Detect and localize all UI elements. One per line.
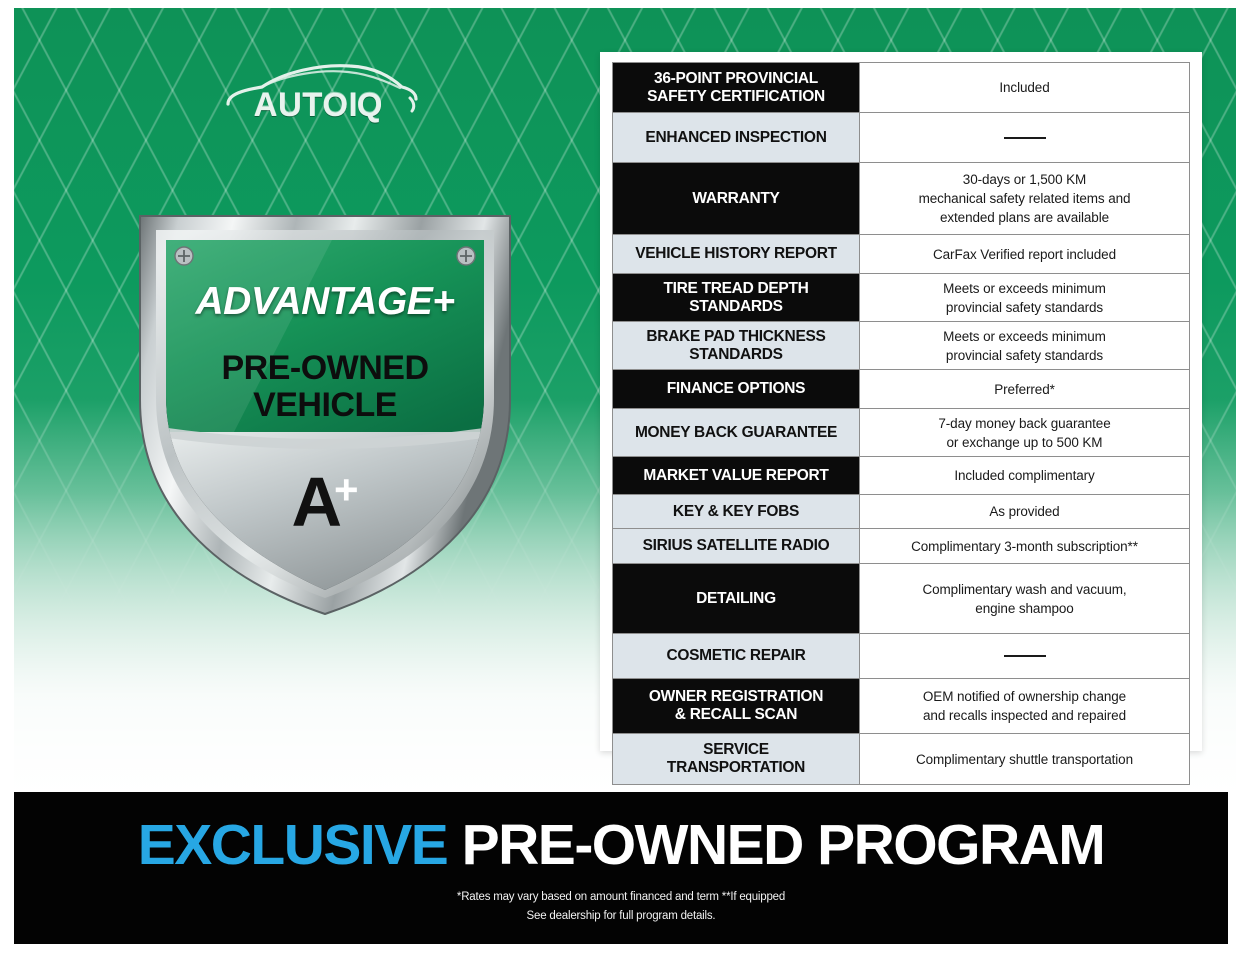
logo-text-auto: AUTO — [254, 86, 349, 123]
table-row: VEHICLE HISTORY REPORTCarFax Verified re… — [613, 235, 1189, 274]
table-row-label: SERVICETRANSPORTATION — [613, 734, 859, 784]
screw-icon-left — [175, 247, 193, 265]
table-row: MONEY BACK GUARANTEE7-day money back gua… — [613, 409, 1189, 457]
advantage-plus-poster: AUTOIQ — [0, 0, 1242, 960]
table-row: 36-POINT PROVINCIALSAFETY CERTIFICATIONI… — [613, 63, 1189, 113]
em-dash-placeholder — [1004, 137, 1046, 139]
banner-title: EXCLUSIVE PRE-OWNED PROGRAM — [14, 812, 1228, 878]
table-row-label: MARKET VALUE REPORT — [613, 457, 859, 494]
table-row-label: ENHANCED INSPECTION — [613, 113, 859, 162]
table-row-value: Included — [859, 63, 1189, 112]
table-row-value — [859, 113, 1189, 162]
table-row: TIRE TREAD DEPTHSTANDARDSMeets or exceed… — [613, 274, 1189, 322]
table-row-value: OEM notified of ownership changeand reca… — [859, 679, 1189, 733]
table-row-label: KEY & KEY FOBS — [613, 495, 859, 528]
table-row: MARKET VALUE REPORTIncluded complimentar… — [613, 457, 1189, 495]
table-row-label: BRAKE PAD THICKNESSSTANDARDS — [613, 322, 859, 369]
table-row-value: Meets or exceeds minimumprovincial safet… — [859, 322, 1189, 369]
table-row-label: VEHICLE HISTORY REPORT — [613, 235, 859, 273]
footnote-line-1: *Rates may vary based on amount financed… — [14, 888, 1228, 907]
table-row-value: Complimentary 3-month subscription** — [859, 529, 1189, 563]
table-row-value — [859, 634, 1189, 678]
table-row: SERVICETRANSPORTATIONComplimentary shutt… — [613, 734, 1189, 784]
table-row: BRAKE PAD THICKNESSSTANDARDSMeets or exc… — [613, 322, 1189, 370]
table-row-label: COSMETIC REPAIR — [613, 634, 859, 678]
table-row: KEY & KEY FOBSAs provided — [613, 495, 1189, 529]
table-row-label: WARRANTY — [613, 163, 859, 234]
table-row-value: Complimentary wash and vacuum,engine sha… — [859, 564, 1189, 633]
table-row-label: MONEY BACK GUARANTEE — [613, 409, 859, 456]
footnote-line-2: See dealership for full program details. — [14, 907, 1228, 926]
table-row-value: Complimentary shuttle transportation — [859, 734, 1189, 784]
auto-iq-wordmark: AUTOIQ — [210, 86, 425, 124]
banner-footnotes: *Rates may vary based on amount financed… — [14, 888, 1228, 926]
table-row-value: CarFax Verified report included — [859, 235, 1189, 273]
table-row-label: OWNER REGISTRATION& RECALL SCAN — [613, 679, 859, 733]
logo-text-iq: IQ — [349, 86, 382, 123]
table-row: OWNER REGISTRATION& RECALL SCANOEM notif… — [613, 679, 1189, 734]
banner-title-highlight: EXCLUSIVE — [138, 813, 448, 877]
table-row: WARRANTY30-days or 1,500 KMmechanical sa… — [613, 163, 1189, 235]
screw-icon-right — [457, 247, 475, 265]
em-dash-placeholder — [1004, 655, 1046, 657]
table-row: FINANCE OPTIONSPreferred* — [613, 370, 1189, 409]
table-row-label: TIRE TREAD DEPTHSTANDARDS — [613, 274, 859, 321]
table-row-value: Preferred* — [859, 370, 1189, 408]
feature-table-card: 36-POINT PROVINCIALSAFETY CERTIFICATIONI… — [600, 52, 1202, 751]
table-row-label: SIRIUS SATELLITE RADIO — [613, 529, 859, 563]
banner-title-rest: PRE-OWNED PROGRAM — [462, 813, 1105, 877]
shield-graphic — [114, 200, 536, 618]
table-row-label: FINANCE OPTIONS — [613, 370, 859, 408]
table-row-value: 7-day money back guaranteeor exchange up… — [859, 409, 1189, 456]
table-row: COSMETIC REPAIR — [613, 634, 1189, 679]
table-row-label: 36-POINT PROVINCIALSAFETY CERTIFICATION — [613, 63, 859, 112]
table-row-value: Meets or exceeds minimumprovincial safet… — [859, 274, 1189, 321]
feature-table: 36-POINT PROVINCIALSAFETY CERTIFICATIONI… — [612, 62, 1190, 785]
bottom-banner: EXCLUSIVE PRE-OWNED PROGRAM *Rates may v… — [14, 792, 1228, 944]
advantage-plus-shield-badge: ADVANTAGE+ PRE-OWNEDVEHICLE A+ — [114, 200, 536, 618]
table-row-value: 30-days or 1,500 KMmechanical safety rel… — [859, 163, 1189, 234]
auto-iq-logo: AUTOIQ — [210, 60, 425, 132]
table-row-label: DETAILING — [613, 564, 859, 633]
table-row-value: Included complimentary — [859, 457, 1189, 494]
table-row: DETAILINGComplimentary wash and vacuum,e… — [613, 564, 1189, 634]
table-row-value: As provided — [859, 495, 1189, 528]
table-row: ENHANCED INSPECTION — [613, 113, 1189, 163]
table-row: SIRIUS SATELLITE RADIOComplimentary 3-mo… — [613, 529, 1189, 564]
